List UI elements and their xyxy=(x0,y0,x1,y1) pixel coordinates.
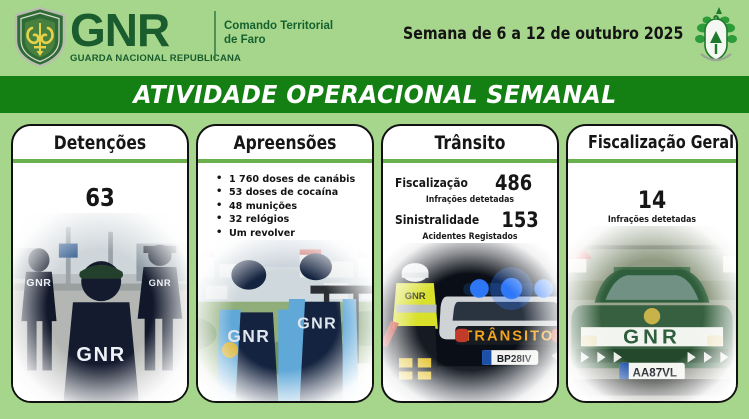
list-item: 53 doses de cocaína xyxy=(212,186,362,199)
photo-detencoes: GNR GNR GNR xyxy=(13,213,187,401)
detencoes-value: 63 xyxy=(33,169,167,213)
command-line-2: de Faro xyxy=(224,33,333,47)
card-fiscalizacao-geral: Fiscalização Geral 14 Infrações detetada… xyxy=(566,124,738,403)
svg-text:GNR: GNR xyxy=(405,291,426,301)
fiscalizacao-value: 14 xyxy=(587,169,716,215)
cards-row: Detenções 63 xyxy=(0,124,749,412)
main-banner: ATIVIDADE OPERACIONAL SEMANAL xyxy=(0,76,749,113)
svg-text:GNR: GNR xyxy=(76,344,126,366)
svg-text:GNR: GNR xyxy=(26,277,51,289)
banner-title: ATIVIDADE OPERACIONAL SEMANAL xyxy=(133,81,616,108)
card-title-fiscalizacao-geral: Fiscalização Geral xyxy=(585,126,719,159)
card-body-detencoes: 63 xyxy=(13,163,187,213)
card-title-transito: Trânsito xyxy=(399,126,542,159)
stat-value: 153 xyxy=(497,209,543,232)
card-title-apreensoes: Apreensões xyxy=(214,126,357,159)
list-item: 32 relógios xyxy=(212,213,362,226)
faro-coat-of-arms xyxy=(691,4,741,68)
card-body-fiscalizacao-geral: 14 Infrações detetadas xyxy=(568,163,736,226)
svg-text:AA87VL: AA87VL xyxy=(632,366,677,379)
stat-caption: Acidentes Registados xyxy=(397,232,542,243)
stat-sinistralidade: Sinistralidade 153 xyxy=(391,206,549,232)
card-apreensoes: Apreensões 1 760 doses de canábis 53 dos… xyxy=(196,124,374,403)
gnr-wordmark: GNR GUARDA NACIONAL REPUBLICANA xyxy=(70,7,210,65)
svg-text:GNR: GNR xyxy=(149,277,172,288)
card-detencoes: Detenções 63 xyxy=(11,124,189,403)
list-item: 48 munições xyxy=(212,200,362,213)
photo-transito: TRÂNSITO BP28IV xyxy=(383,243,557,401)
list-item: 1 760 doses de canábis xyxy=(212,173,362,186)
command-territorial-label: Comando Territorial de Faro xyxy=(224,19,333,47)
photo-apreensoes: GNR GNR xyxy=(198,240,372,401)
header-divider xyxy=(214,11,216,59)
photo-fiscalizacao-geral: GNR AA87VL xyxy=(568,226,736,401)
fiscalizacao-caption: Infrações detetadas xyxy=(582,215,722,226)
stat-label: Fiscalização xyxy=(395,172,468,194)
card-title-detencoes: Detenções xyxy=(29,126,172,159)
card-body-apreensoes: 1 760 doses de canábis 53 doses de cocaí… xyxy=(198,163,372,240)
gnr-letters: GNR xyxy=(70,7,210,53)
stat-label: Sinistralidade xyxy=(395,209,479,231)
svg-text:GNR: GNR xyxy=(227,326,270,346)
list-item: Um revolver xyxy=(212,227,362,240)
stat-fiscalizacao: Fiscalização 486 xyxy=(391,169,549,195)
svg-text:TRÂNSITO: TRÂNSITO xyxy=(463,327,554,345)
gnr-subtitle: GUARDA NACIONAL REPUBLICANA xyxy=(70,53,210,64)
command-line-1: Comando Territorial xyxy=(224,19,333,33)
week-range-label: Semana de 6 a 12 de outubro 2025 xyxy=(403,24,661,44)
stat-caption: Infrações detetadas xyxy=(397,195,542,206)
gnr-shield-crest xyxy=(12,6,68,68)
page-header: GNR GUARDA NACIONAL REPUBLICANA Comando … xyxy=(0,0,749,74)
stat-value: 486 xyxy=(485,172,542,195)
svg-text:BP28IV: BP28IV xyxy=(497,354,532,365)
card-body-transito: Fiscalização 486 Infrações detetadas Sin… xyxy=(383,163,557,243)
svg-text:GNR: GNR xyxy=(297,315,337,333)
apreensoes-list: 1 760 doses de canábis 53 doses de cocaí… xyxy=(206,169,364,240)
svg-text:GNR: GNR xyxy=(623,326,681,349)
card-transito: Trânsito Fiscalização 486 Infrações dete… xyxy=(381,124,559,403)
